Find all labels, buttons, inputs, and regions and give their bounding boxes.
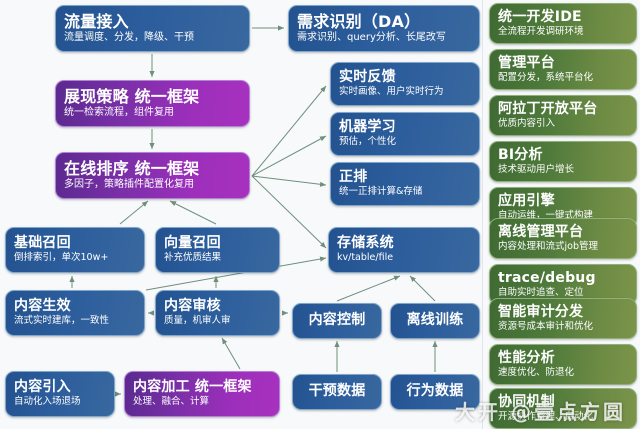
edge-online-ranking-to-realtime-feedback — [252, 86, 326, 176]
sidebar-item-subtitle: 全流程开发调研环境 — [498, 27, 628, 38]
sidebar-item-title: 离线管理平台 — [498, 225, 628, 241]
sidebar-item-bi-analysis[interactable]: BI分析技术驱动用户增长 — [489, 141, 637, 182]
node-title: 流量接入 — [64, 13, 241, 31]
edge-content-control-to-storage-system — [337, 276, 400, 301]
node-content-processing[interactable]: 内容加工 统一框架处理、融合、计算 — [124, 371, 280, 417]
node-content-effective[interactable]: 内容生效流式实时建库，一致性 — [5, 290, 145, 336]
node-forward-index[interactable]: 正排统一正排计算&存储 — [330, 162, 480, 206]
sidebar-item-subtitle: 优质内容引入 — [498, 119, 628, 130]
node-machine-learning[interactable]: 机器学习预估，个性化 — [330, 112, 480, 156]
sidebar-item-title: 应用引擎 — [498, 194, 628, 210]
node-title: 展现策略 统一框架 — [64, 88, 241, 106]
architecture-diagram: 流量接入流量调度、分发，降级、干预需求识别（DA）需求识别、query分析、长尾… — [0, 0, 640, 429]
node-offline-training[interactable]: 离线训练 — [390, 303, 480, 339]
sidebar-item-title: 性能分析 — [498, 351, 628, 367]
sidebar-item-subtitle: 技术驱动用户增长 — [498, 165, 628, 176]
node-online-ranking[interactable]: 在线排序 统一框架多因子，策略插件配置化复用 — [55, 152, 250, 199]
node-title: 基础召回 — [14, 236, 136, 252]
sidebar-item-offline-mgmt[interactable]: 离线管理平台内容处理和流式job管理 — [489, 218, 637, 259]
sidebar-item-subtitle: 内容处理和流式job管理 — [498, 242, 628, 253]
sidebar-item-title: 阿拉丁开放平台 — [498, 102, 628, 118]
node-content-review[interactable]: 内容审核质量，机审人审 — [155, 290, 280, 336]
sidebar-item-aladdin-platform[interactable]: 阿拉丁开放平台优质内容引入 — [489, 95, 637, 136]
node-subtitle: 流式实时建库，一致性 — [14, 316, 136, 327]
sidebar-item-subtitle: 资源号成本审计和优化 — [498, 322, 628, 333]
node-content-control[interactable]: 内容控制 — [292, 303, 382, 339]
node-title: 机器学习 — [339, 120, 471, 136]
watermark: 大开 @壹点方圆 — [455, 396, 626, 425]
node-title: 正排 — [339, 170, 471, 186]
edge-online-ranking-to-machine-learning — [252, 136, 326, 176]
edge-offline-training-to-storage-system — [410, 276, 435, 301]
node-realtime-feedback[interactable]: 实时反馈实时画像、用户实时行为 — [330, 62, 480, 106]
node-subtitle: kv/table/file — [337, 253, 471, 264]
node-subtitle: 统一检索流程，组件复用 — [64, 107, 241, 118]
sidebar-item-title: 管理平台 — [498, 56, 628, 72]
node-subtitle: 多因子，策略插件配置化复用 — [64, 179, 241, 190]
sidebar-item-subtitle: 速度优化、防退化 — [498, 368, 628, 379]
node-subtitle: 预估，个性化 — [339, 137, 471, 148]
node-title: 内容生效 — [14, 299, 136, 315]
node-content-import[interactable]: 内容引入自动化入场退场 — [5, 371, 115, 417]
node-title: 干预数据 — [309, 384, 366, 400]
node-subtitle: 质量，机审人审 — [164, 316, 271, 327]
node-subtitle: 实时画像、用户实时行为 — [339, 87, 471, 98]
node-subtitle: 处理、融合、计算 — [133, 397, 271, 408]
sidebar-item-unified-ide[interactable]: 统一开发IDE全流程开发调研环境 — [489, 3, 637, 44]
node-vector-recall[interactable]: 向量召回补充优质结果 — [155, 227, 280, 273]
node-subtitle: 统一正排计算&存储 — [339, 187, 471, 198]
node-title: 内容审核 — [164, 299, 271, 315]
edge-vector-recall-to-online-ranking — [170, 201, 216, 224]
sidebar-item-title: 统一开发IDE — [498, 10, 628, 26]
sidebar-item-title: trace/debug — [498, 271, 628, 287]
node-subtitle: 需求识别、query分析、长尾改写 — [297, 32, 471, 43]
node-title: 离线训练 — [407, 313, 464, 329]
node-subtitle: 倒排索引，单次10w+ — [14, 253, 136, 264]
sidebar-item-management-platform[interactable]: 管理平台配置分发，系统平台化 — [489, 49, 637, 90]
node-basic-recall[interactable]: 基础召回倒排索引，单次10w+ — [5, 227, 145, 273]
node-demand-recognition[interactable]: 需求识别（DA）需求识别、query分析、长尾改写 — [288, 5, 480, 52]
node-title: 内容引入 — [14, 380, 106, 396]
node-traffic-access[interactable]: 流量接入流量调度、分发，降级、干预 — [55, 5, 250, 52]
node-subtitle: 流量调度、分发，降级、干预 — [64, 32, 241, 43]
node-display-strategy[interactable]: 展现策略 统一框架统一检索流程，组件复用 — [55, 80, 250, 127]
sidebar-item-subtitle: 配置分发，系统平台化 — [498, 73, 628, 84]
edge-content-processing-to-content-review — [222, 338, 240, 369]
node-title: 内容加工 统一框架 — [133, 380, 271, 396]
node-title: 需求识别（DA） — [297, 13, 471, 31]
node-title: 向量召回 — [164, 236, 271, 252]
sidebar-item-performance-analysis[interactable]: 性能分析速度优化、防退化 — [489, 344, 637, 385]
sidebar-item-smart-audit[interactable]: 智能审计分发资源号成本审计和优化 — [489, 298, 637, 339]
node-subtitle: 自动化入场退场 — [14, 397, 106, 408]
node-title: 实时反馈 — [339, 70, 471, 86]
sidebar-divider — [482, 0, 483, 429]
node-storage-system[interactable]: 存储系统kv/table/file — [328, 227, 480, 273]
sidebar-item-subtitle: 自助实时追查、定位 — [498, 288, 628, 299]
node-subtitle: 补充优质结果 — [164, 253, 271, 264]
node-title: 内容控制 — [309, 313, 366, 329]
sidebar-item-title: BI分析 — [498, 148, 628, 164]
edge-online-ranking-to-forward-index — [252, 176, 326, 185]
node-title: 在线排序 统一框架 — [64, 160, 241, 178]
node-intervention-data[interactable]: 干预数据 — [292, 374, 382, 410]
edge-basic-recall-to-online-ranking — [120, 201, 148, 224]
sidebar-item-title: 智能审计分发 — [498, 305, 628, 321]
node-title: 存储系统 — [337, 236, 471, 252]
